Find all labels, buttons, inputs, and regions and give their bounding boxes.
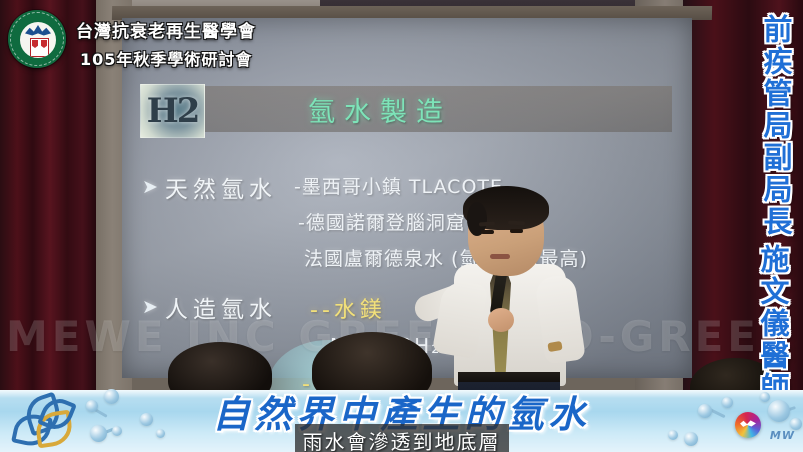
bullet-heading: 天然氫水 [165, 170, 277, 204]
speaker-eye-right [510, 229, 523, 233]
bullet-arrow-icon: ➤ [142, 178, 158, 197]
speaker-eyebrow-right [508, 221, 525, 226]
speaker-eye-left [481, 230, 494, 234]
speaker-hand [488, 308, 514, 332]
organization-logo [8, 10, 66, 68]
logo-inner [19, 21, 57, 59]
banner-event-name: 105年秋季學術研討會 [80, 46, 252, 70]
slide-bullet-natural: ➤ 天然氫水 [142, 170, 277, 204]
speaker-hair [463, 186, 549, 230]
h2-logo-icon: H2 [140, 84, 205, 138]
speaker-position-title: 前疾管局副局長 [755, 14, 797, 238]
h2-logo-text: H2 [147, 91, 199, 131]
caption-subtitle: 雨水會滲透到地底層 [295, 424, 509, 452]
speaker-mouth [490, 254, 510, 259]
banner-org-name: 台灣抗衰老再生醫學會 [76, 17, 256, 42]
slide-title: 氫水製造 [308, 90, 452, 129]
speaker-figure [432, 186, 622, 396]
video-frame: H2 氫水製造 ➤ 天然氫水 -墨西哥小鎮 TLACOTE -德國諾爾登腦洞窟 … [0, 0, 803, 452]
shield-icon [30, 38, 49, 57]
speaker-name: 施文儀醫師 [752, 244, 794, 404]
caption-sub-wrap: 雨水會滲透到地底層 [0, 424, 803, 452]
